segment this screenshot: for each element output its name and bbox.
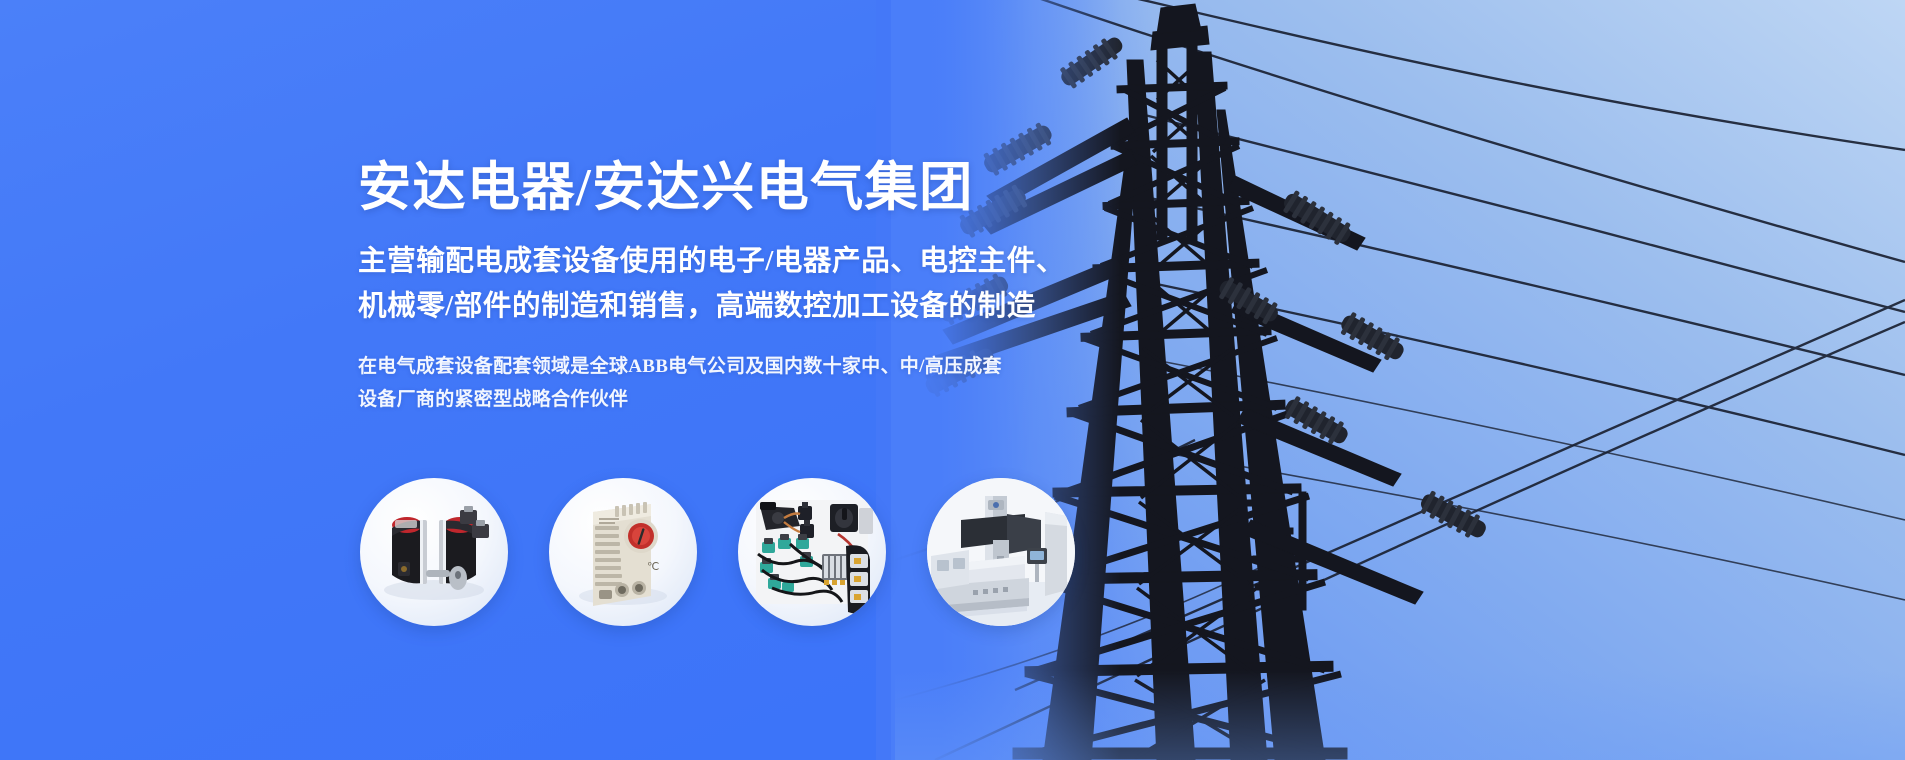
hero-banner: 安达电器/安达兴电气集团 主营输配电成套设备使用的电子/电器产品、电控主件、 机… xyxy=(0,0,1905,760)
svg-text:℃: ℃ xyxy=(647,561,659,573)
subtitle-line-2: 机械零/部件的制造和销售，高端数控加工设备的制造 xyxy=(358,284,1078,329)
banner-text-block: 安达电器/安达兴电气集团 主营输配电成套设备使用的电子/电器产品、电控主件、 机… xyxy=(358,160,1078,417)
product-thumb-cnc-gantry-machining-center[interactable] xyxy=(927,478,1075,626)
description-line-2: 设备厂商的紧密型战略合作伙伴 xyxy=(358,384,1078,417)
subtitle-line-1: 主营输配电成套设备使用的电子/电器产品、电控主件、 xyxy=(358,239,1078,284)
product-thumb-cabinet-thermostat[interactable]: ℃ xyxy=(549,478,697,626)
description-line-1: 在电气成套设备配套领域是全球ABB电气公司及国内数十家中、中/高压成套 xyxy=(358,351,1078,384)
product-thumb-split-core-current-transformer[interactable] xyxy=(360,478,508,626)
banner-subtitle: 主营输配电成套设备使用的电子/电器产品、电控主件、 机械零/部件的制造和销售，高… xyxy=(358,239,1078,329)
banner-description: 在电气成套设备配套领域是全球ABB电气公司及国内数十家中、中/高压成套 设备厂商… xyxy=(358,351,1078,416)
product-thumbnail-row: ℃ xyxy=(360,478,1075,626)
page-title: 安达电器/安达兴电气集团 xyxy=(358,160,1078,217)
product-thumb-electrical-control-assembly[interactable] xyxy=(738,478,886,626)
